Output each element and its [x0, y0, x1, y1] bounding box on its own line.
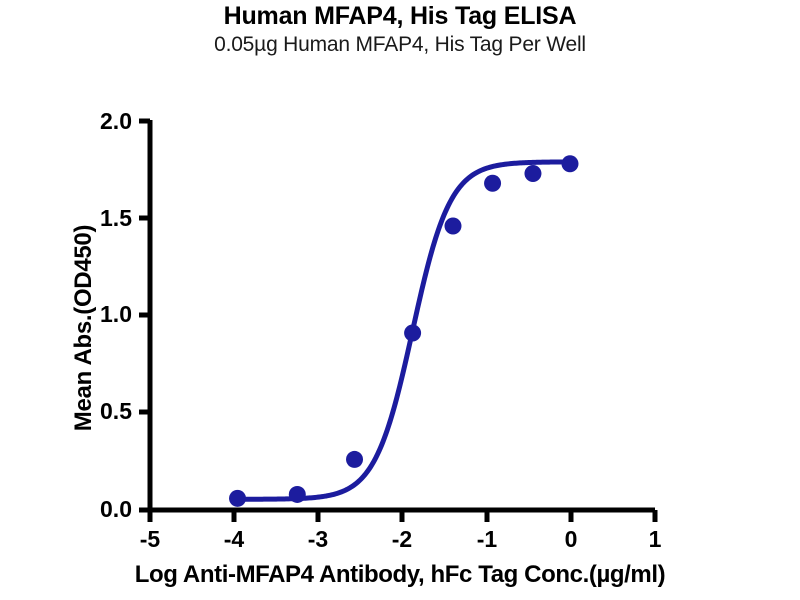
data-point [524, 165, 541, 182]
data-point [484, 175, 501, 192]
data-point-markers [229, 155, 578, 507]
plot-area [0, 0, 800, 600]
chart-figure: Human MFAP4, His Tag ELISA 0.05µg Human … [0, 0, 800, 600]
data-point [561, 155, 578, 172]
data-point [404, 325, 421, 342]
data-point [346, 451, 363, 468]
data-point [229, 490, 246, 507]
sigmoid-fit-curve [238, 162, 570, 499]
data-point [289, 486, 306, 503]
data-point [445, 218, 462, 235]
